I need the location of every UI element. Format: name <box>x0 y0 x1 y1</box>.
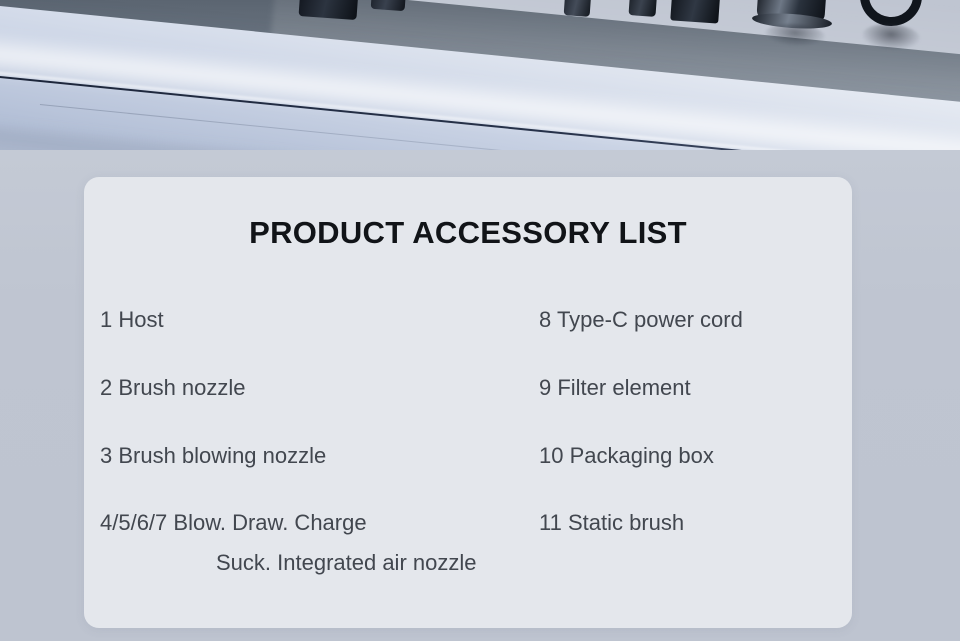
list-item-line-1: 4/5/6/7 Blow. Draw. Charge <box>100 510 367 535</box>
list-item-line-2: Suck. Integrated air nozzle <box>100 550 539 577</box>
metal-nozzle-accessory-5 <box>670 0 722 24</box>
accessory-column-right: 8 Type-C power cord 9 Filter element 10 … <box>539 307 852 577</box>
list-item: 10 Packaging box <box>539 443 852 470</box>
accessory-list-card: PRODUCT ACCESSORY LIST 1 Host 2 Brush no… <box>84 177 852 628</box>
accessory-column-left: 1 Host 2 Brush nozzle 3 Brush blowing no… <box>84 307 539 577</box>
accessory-columns: 1 Host 2 Brush nozzle 3 Brush blowing no… <box>84 307 852 577</box>
list-item: 4/5/6/7 Blow. Draw. Charge Suck. Integra… <box>100 510 539 577</box>
list-item: 1 Host <box>100 307 539 334</box>
list-item: 8 Type-C power cord <box>539 307 852 334</box>
page-title: PRODUCT ACCESSORY LIST <box>84 215 852 251</box>
list-item: 2 Brush nozzle <box>100 375 539 402</box>
list-item: 9 Filter element <box>539 375 852 402</box>
metal-nozzle-accessory-4 <box>628 0 658 17</box>
list-item: 11 Static brush <box>539 510 852 537</box>
list-item: 3 Brush blowing nozzle <box>100 443 539 470</box>
metal-nozzle-accessory-3 <box>564 0 593 17</box>
product-accessory-page: PRODUCT ACCESSORY LIST 1 Host 2 Brush no… <box>0 0 960 641</box>
